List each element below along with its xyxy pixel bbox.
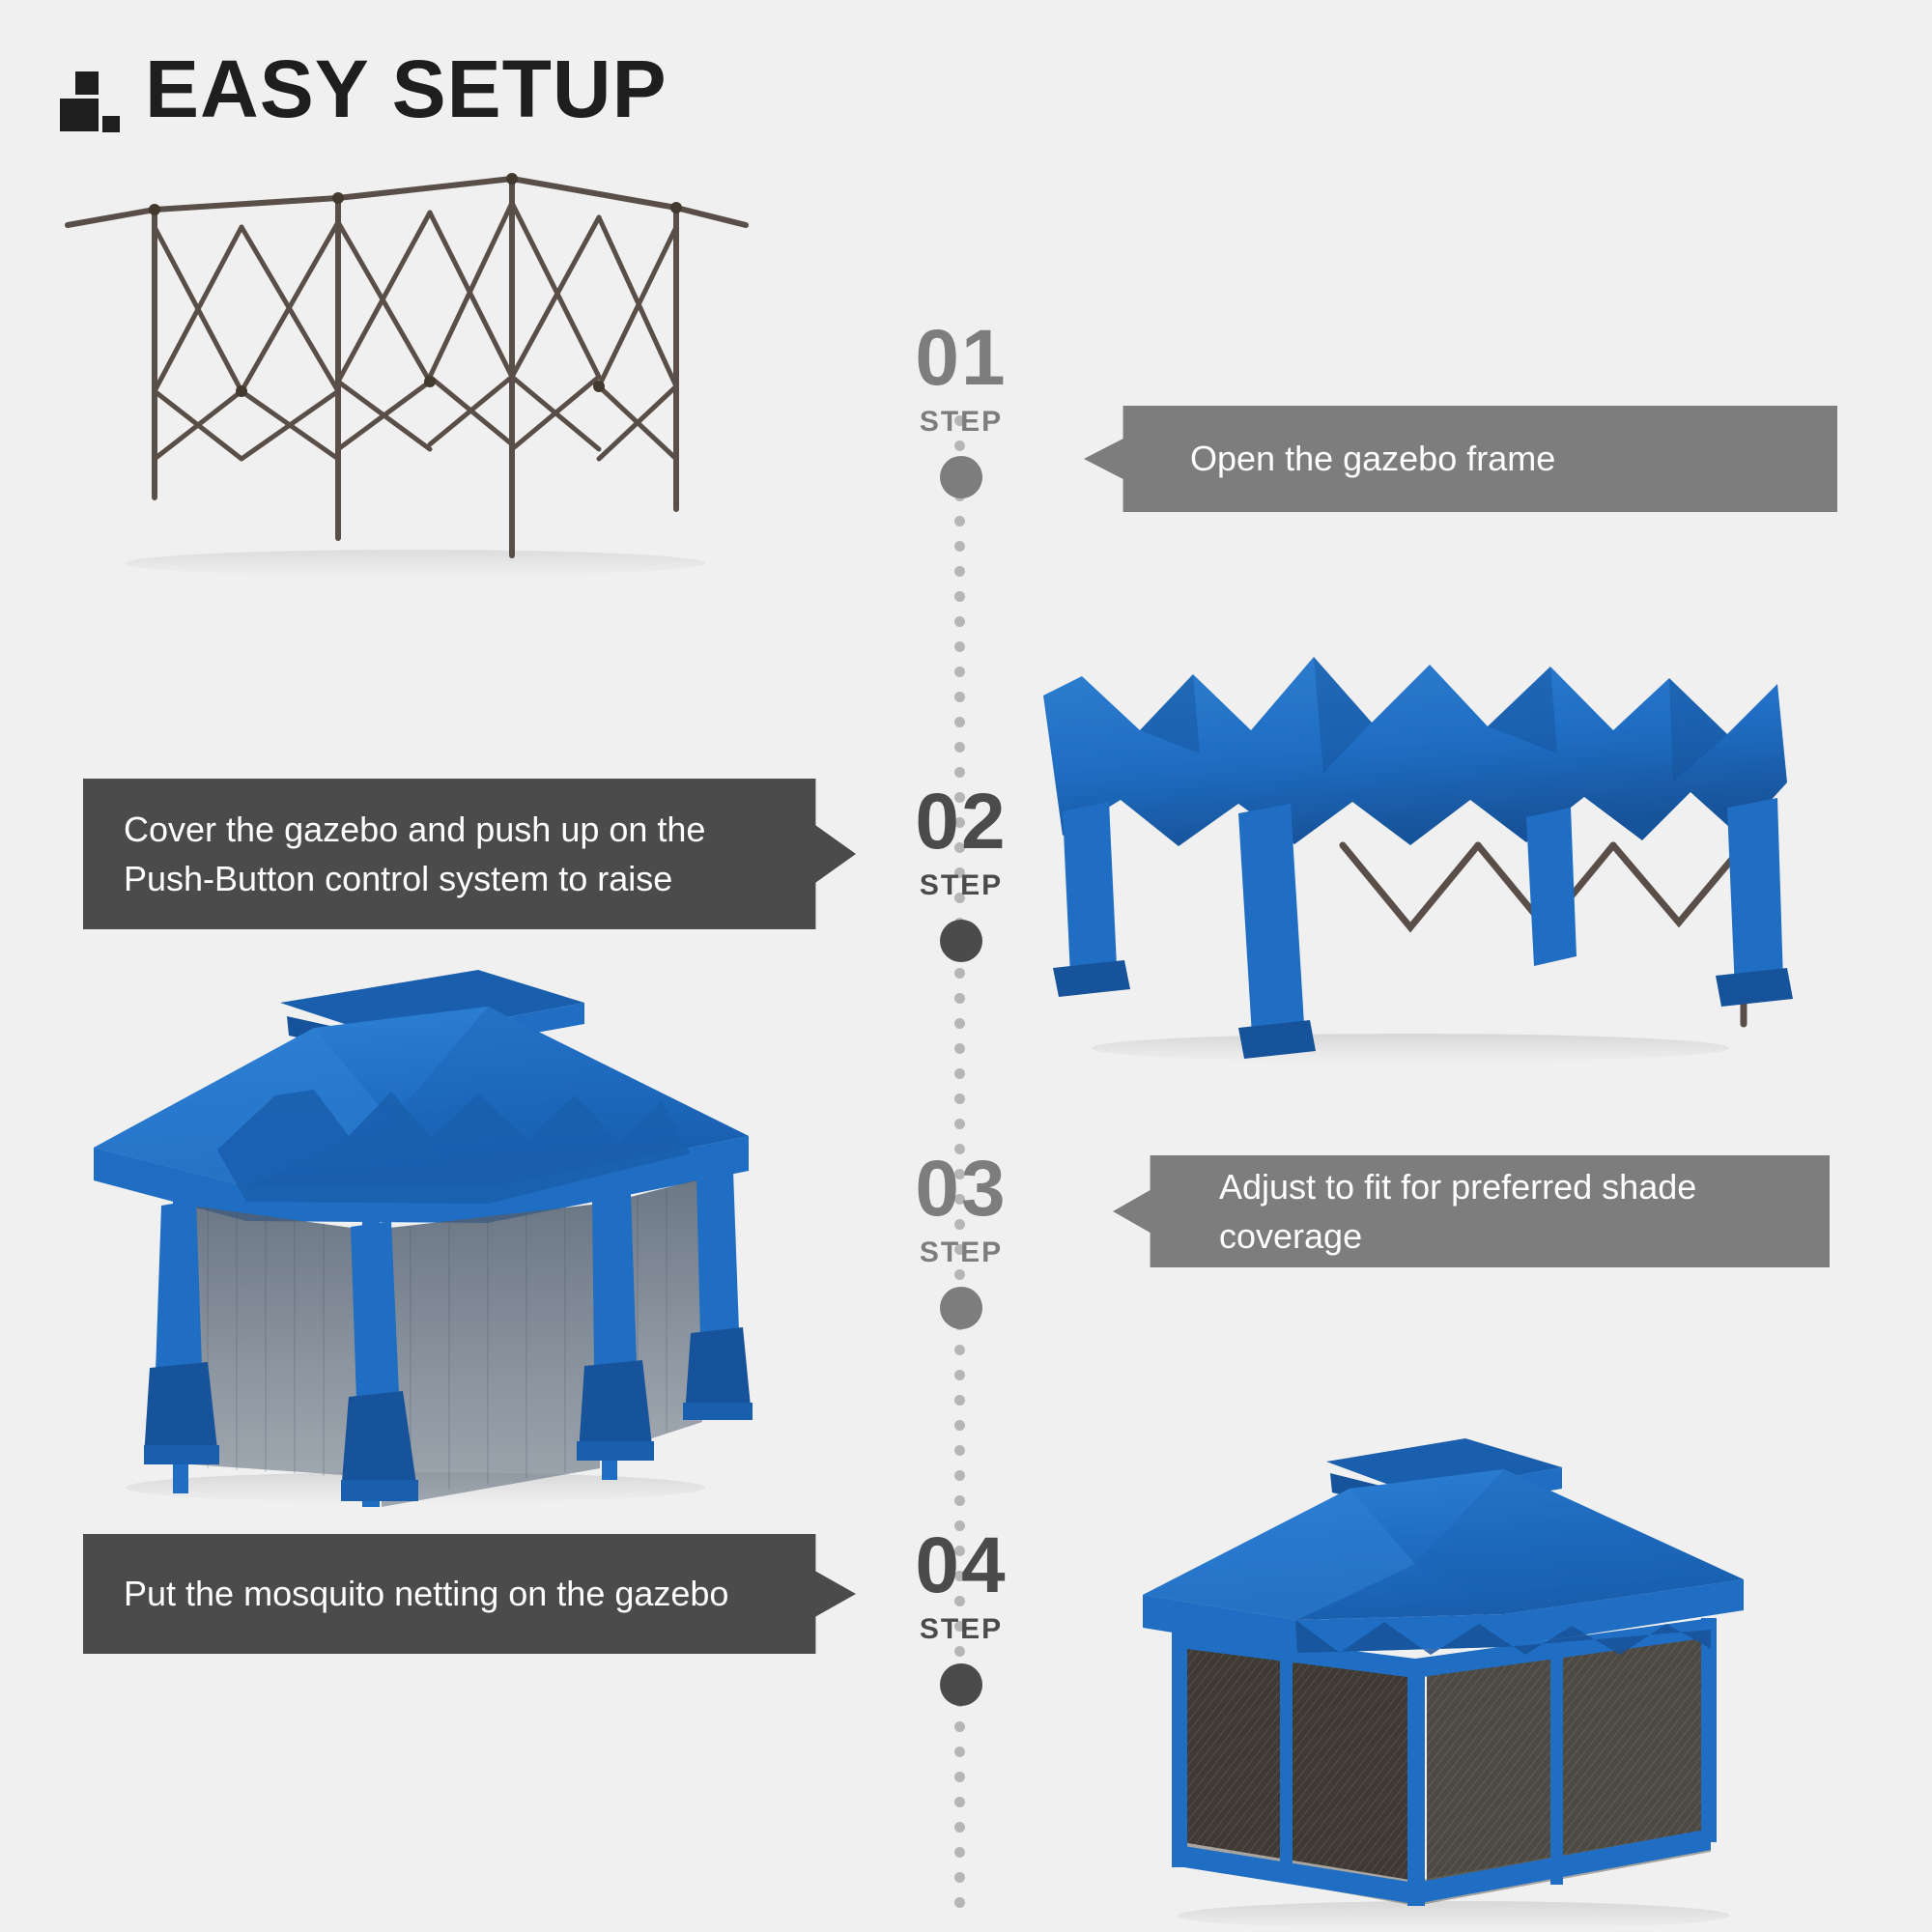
timeline-dot <box>954 1420 965 1431</box>
timeline-dot <box>954 667 965 677</box>
page-header: EASY SETUP <box>60 54 668 124</box>
step-marker-02: 02 STEP <box>850 782 1072 962</box>
step-marker-03: 03 STEP <box>850 1150 1072 1329</box>
blocks-mark-square-body <box>60 99 99 131</box>
timeline-dot <box>954 516 965 526</box>
timeline-dot <box>954 1068 965 1079</box>
timeline-dot <box>954 591 965 602</box>
timeline-dot <box>954 692 965 702</box>
timeline-dot <box>954 1345 965 1355</box>
step-callout-text-01: Open the gazebo frame <box>1190 434 1555 483</box>
timeline-dot <box>954 1370 965 1380</box>
timeline-dot <box>954 1897 965 1908</box>
timeline-dot <box>954 1495 965 1506</box>
step-number-01: 01 <box>850 319 1072 398</box>
timeline-dot <box>954 1395 965 1406</box>
step-marker-01: 01 STEP <box>850 319 1072 498</box>
timeline-dot <box>954 1847 965 1858</box>
step-callout-text-02-line1: Cover the gazebo and push up on the <box>124 810 705 849</box>
step-word-04: STEP <box>850 1613 1072 1646</box>
timeline-dot <box>954 1018 965 1029</box>
step-callout-text-04: Put the mosquito netting on the gazebo <box>124 1569 728 1618</box>
gazebo-canopy-draped-photo <box>1024 638 1797 1063</box>
step-callout-text-03: Adjust to fit for preferred shade covera… <box>1219 1162 1791 1261</box>
timeline-dot <box>954 1445 965 1456</box>
timeline-dot <box>954 993 965 1004</box>
timeline-dot <box>954 566 965 577</box>
step-callout-04: Put the mosquito netting on the gazebo <box>83 1534 856 1654</box>
timeline-dot <box>954 1094 965 1104</box>
timeline-dot <box>954 767 965 778</box>
step-marker-04: 04 STEP <box>850 1526 1072 1706</box>
step-number-03: 03 <box>850 1150 1072 1229</box>
timeline-dot <box>954 1043 965 1054</box>
step-callout-01: Open the gazebo frame <box>1084 406 1837 512</box>
step-number-02: 02 <box>850 782 1072 862</box>
step-word-01: STEP <box>850 406 1072 439</box>
timeline-dot <box>954 1772 965 1782</box>
timeline-dot <box>954 541 965 552</box>
step-callout-text-02: Cover the gazebo and push up on the Push… <box>124 805 705 903</box>
step-word-02: STEP <box>850 869 1072 902</box>
gazebo-mosquito-netting-closed-photo <box>1125 1406 1773 1932</box>
timeline-dot <box>954 1747 965 1757</box>
timeline-dot <box>954 1797 965 1807</box>
blocks-mark-icon <box>60 54 120 124</box>
step-callout-02: Cover the gazebo and push up on the Push… <box>83 779 856 929</box>
timeline-dot <box>954 641 965 652</box>
blocks-mark-square-top <box>75 71 99 95</box>
step-word-03: STEP <box>850 1236 1072 1269</box>
step-callout-03: Adjust to fit for preferred shade covera… <box>1113 1155 1830 1267</box>
step-number-04: 04 <box>850 1526 1072 1605</box>
infographic-page: EASY SETUP <box>0 0 1932 1932</box>
timeline-dot <box>954 968 965 979</box>
step-callout-text-02-line2: Push-Button control system to raise <box>124 859 672 898</box>
step-bullet-04 <box>940 1663 982 1706</box>
timeline-dot <box>954 1721 965 1732</box>
gazebo-raised-netting-open-photo <box>72 947 768 1507</box>
timeline-dot <box>954 1872 965 1883</box>
timeline-dot <box>954 1119 965 1129</box>
step-bullet-03 <box>940 1287 982 1329</box>
timeline-dot <box>954 616 965 627</box>
step-bullet-02 <box>940 920 982 962</box>
timeline-dot <box>954 1822 965 1833</box>
timeline-dot <box>954 717 965 727</box>
gazebo-frame-folded-photo <box>58 169 753 575</box>
timeline-dot <box>954 742 965 753</box>
blocks-mark-square-dot <box>102 116 120 132</box>
timeline-dot <box>954 1470 965 1481</box>
page-title: EASY SETUP <box>145 54 668 124</box>
step-bullet-01 <box>940 456 982 498</box>
